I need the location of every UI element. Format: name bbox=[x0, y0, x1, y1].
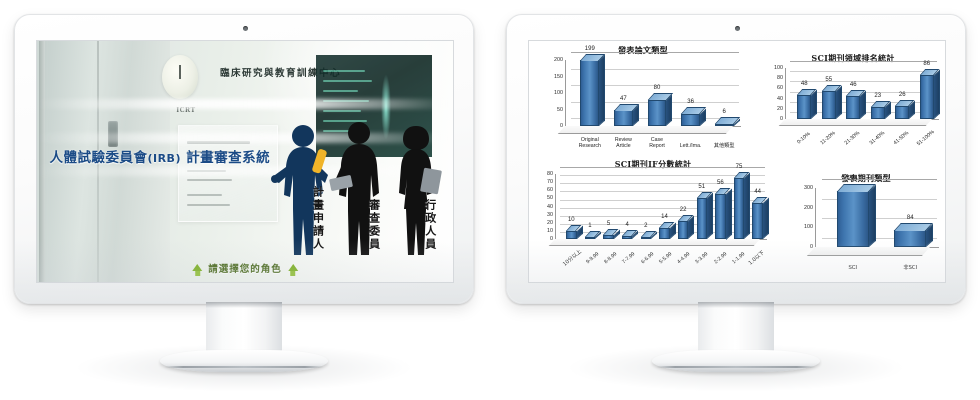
bar-side bbox=[744, 173, 750, 239]
bar-value-label: 46 bbox=[850, 82, 857, 88]
bar: 23 bbox=[871, 107, 885, 119]
y-axis-tick: 80 bbox=[765, 75, 783, 81]
bar-face bbox=[566, 231, 576, 239]
bar-face bbox=[846, 96, 860, 119]
y-axis-tick: 50 bbox=[537, 195, 553, 201]
chart-floor bbox=[558, 126, 733, 134]
bar-side bbox=[836, 86, 842, 119]
silhouette-admin[interactable] bbox=[386, 123, 446, 263]
sci-rank-chart-title: SCI期刊領域排名統計 bbox=[765, 53, 941, 64]
bar: 55 bbox=[822, 91, 836, 119]
x-axis-tick: 41-50% bbox=[890, 126, 915, 144]
y-axis-tick: 300 bbox=[791, 185, 813, 191]
monitor-bezel-right: 發表論文類型 0501001502001994780366 OriginalRe… bbox=[506, 14, 966, 304]
x-axis-tick: 非SCI bbox=[882, 256, 940, 274]
bar-value-label: 48 bbox=[801, 81, 808, 87]
sci-rank-plot: 020406080100485546232686 bbox=[765, 66, 941, 128]
bar-value-label: 26 bbox=[899, 92, 906, 98]
sci-if-chart-title: SCI期刊IF分數統計 bbox=[537, 159, 769, 170]
bar-value-label: 36 bbox=[687, 99, 694, 105]
bar-value-label: 84 bbox=[907, 215, 914, 221]
bar-side bbox=[869, 185, 876, 247]
bar: 75 bbox=[734, 178, 744, 239]
silhouette-reviewer[interactable] bbox=[328, 121, 390, 263]
role-label-applicant[interactable]: 計畫申請人 bbox=[309, 186, 325, 251]
screenshot-stage: ICRT 臨床研究與教育訓練中心 bbox=[0, 0, 980, 400]
bar-face bbox=[580, 60, 599, 126]
gridline bbox=[790, 71, 937, 72]
bar-side bbox=[633, 105, 639, 126]
webcam-dot-right bbox=[735, 26, 740, 31]
bar: 4 bbox=[622, 236, 632, 239]
bar-side bbox=[934, 70, 940, 119]
bar-value-label: 22 bbox=[680, 207, 687, 213]
arrow-up-icon-right bbox=[288, 264, 298, 271]
monitor-base-left bbox=[160, 350, 328, 372]
y-axis-tick: 50 bbox=[543, 107, 563, 113]
bar-value-label: 6 bbox=[723, 109, 726, 115]
y-axis-line bbox=[565, 60, 566, 126]
screen-left: ICRT 臨床研究與教育訓練中心 bbox=[36, 40, 454, 283]
x-axis-tick: 4-4.99 bbox=[675, 246, 693, 264]
x-axis-tick: 9-9.99 bbox=[584, 246, 602, 264]
irb-splash: ICRT 臨床研究與教育訓練中心 bbox=[37, 41, 453, 282]
bar-value-label: 4 bbox=[626, 222, 629, 228]
bar-face bbox=[641, 237, 651, 239]
y-axis-tick: 150 bbox=[543, 74, 563, 80]
y-axis-tick: 60 bbox=[537, 187, 553, 193]
page-title: 人體試驗委員會(IRB) 計畫審查系統 bbox=[49, 146, 270, 166]
role-prompt-text: 請選擇您的角色 bbox=[208, 261, 282, 275]
bar-face bbox=[895, 106, 909, 119]
bar: 80 bbox=[648, 100, 667, 126]
bar-value-label: 55 bbox=[825, 77, 832, 83]
bar-face bbox=[715, 124, 734, 126]
monitor-base-edge-right bbox=[656, 366, 816, 368]
paper-type-chart: 發表論文類型 0501001502001994780366 OriginalRe… bbox=[543, 45, 743, 165]
bar: 84 bbox=[894, 230, 926, 247]
y-axis-tick: 100 bbox=[791, 224, 813, 230]
bar: 44 bbox=[752, 203, 762, 239]
chart-floor bbox=[549, 239, 760, 246]
page-title-cjk2: 計畫審查系統 bbox=[181, 150, 270, 166]
bar-face bbox=[614, 110, 633, 126]
bar: 6 bbox=[715, 124, 734, 126]
x-axis-tick: 6-6.99 bbox=[639, 246, 657, 264]
bar: 5 bbox=[603, 235, 613, 239]
x-axis-tick: SCI bbox=[824, 256, 882, 274]
paper-type-xaxis: OriginalResearchReviewArticleCaseReportL… bbox=[573, 134, 741, 152]
bar: 46 bbox=[846, 96, 860, 119]
sci-rank-xaxis: 0-10%11-20%21-30%31-40%41-50%51-100% bbox=[792, 126, 939, 144]
page-title-irb: (IRB) bbox=[147, 152, 181, 165]
paper-type-plot: 0501001502001994780366 bbox=[543, 58, 743, 136]
paper-type-chart-title: 發表論文類型 bbox=[543, 45, 743, 56]
x-axis-tick: 1.0以下 bbox=[748, 246, 767, 264]
bar-face bbox=[752, 203, 762, 239]
bar-value-label: 23 bbox=[874, 93, 881, 99]
bar-value-label: 44 bbox=[754, 189, 761, 195]
y-axis-tick: 20 bbox=[537, 220, 553, 226]
sci-if-chart: SCI期刊IF分數統計 0102030405060708010154214225… bbox=[537, 159, 769, 281]
page-title-cjk: 人體試驗委員會 bbox=[49, 150, 147, 166]
monitor-base-edge-left bbox=[164, 366, 324, 368]
x-axis-tick: 31-40% bbox=[866, 126, 891, 144]
gridline bbox=[790, 61, 937, 62]
y-axis-tick: 0 bbox=[543, 123, 563, 129]
bar-side bbox=[811, 89, 817, 119]
chart-floor bbox=[779, 119, 932, 126]
journal-type-chart: 發表期刊類型 010020030028484 SCI非SCI bbox=[791, 173, 941, 281]
x-axis-line bbox=[815, 247, 939, 248]
chart-floor bbox=[807, 247, 930, 256]
x-axis-tick: 11-20% bbox=[817, 126, 842, 144]
bar-face bbox=[622, 236, 632, 239]
y-axis-tick: 40 bbox=[765, 96, 783, 102]
bar-side bbox=[688, 216, 694, 239]
bar-side bbox=[599, 55, 605, 126]
x-axis-tick: 5-5.99 bbox=[657, 246, 675, 264]
y-axis-tick: 100 bbox=[543, 90, 563, 96]
role-prompt: 請選擇您的角色 bbox=[192, 261, 298, 275]
bar: 10 bbox=[566, 231, 576, 239]
bar-value-label: 75 bbox=[736, 164, 743, 170]
bar-face bbox=[837, 191, 869, 247]
y-axis-tick: 100 bbox=[765, 65, 783, 71]
bar-face bbox=[678, 221, 688, 239]
bar: 199 bbox=[580, 60, 599, 126]
bar-value-label: 80 bbox=[654, 85, 661, 91]
bar: 284 bbox=[837, 191, 869, 247]
gridline bbox=[822, 179, 937, 180]
bar-side bbox=[926, 224, 933, 247]
y-axis-tick: 60 bbox=[765, 85, 783, 91]
x-axis-tick: 21-30% bbox=[841, 126, 866, 144]
x-axis-tick: 其他類型 bbox=[707, 134, 741, 152]
bar-face bbox=[681, 114, 700, 126]
screen-right: 發表論文類型 0501001502001994780366 OriginalRe… bbox=[528, 40, 946, 283]
bar-side bbox=[707, 193, 713, 239]
statistics-dashboard: 發表論文類型 0501001502001994780366 OriginalRe… bbox=[529, 41, 945, 282]
y-axis-tick: 0 bbox=[791, 244, 813, 250]
y-axis-tick: 70 bbox=[537, 179, 553, 185]
x-axis-tick: 2-2.99 bbox=[712, 246, 730, 264]
x-axis-tick: CaseReport bbox=[640, 134, 674, 152]
bar-value-label: 284 bbox=[848, 176, 858, 182]
y-axis-tick: 0 bbox=[537, 236, 553, 242]
bar-face bbox=[659, 228, 669, 239]
bar-face bbox=[603, 235, 613, 239]
wall-clock bbox=[162, 55, 198, 99]
bar-face bbox=[797, 95, 811, 119]
gridline bbox=[560, 167, 765, 168]
bar-face bbox=[697, 198, 707, 239]
bar: 48 bbox=[797, 95, 811, 119]
bar-side bbox=[860, 90, 866, 118]
monitor-base-right bbox=[652, 350, 820, 372]
bar-face bbox=[822, 91, 836, 119]
bar-face bbox=[715, 194, 725, 240]
x-axis-tick: 10分以上 bbox=[562, 246, 584, 264]
bar-value-label: 86 bbox=[923, 61, 930, 67]
x-axis-tick: 1-1.99 bbox=[730, 246, 748, 264]
bar-face bbox=[734, 178, 744, 239]
x-axis-tick: 7-7.99 bbox=[621, 246, 639, 264]
bar: 47 bbox=[614, 110, 633, 126]
bar-value-label: 2 bbox=[644, 223, 647, 229]
y-axis-tick: 30 bbox=[537, 212, 553, 218]
x-axis-tick: Lett./Ima. bbox=[674, 134, 708, 152]
x-axis-tick: 3-3.99 bbox=[694, 246, 712, 264]
x-axis-line bbox=[555, 239, 767, 240]
bar: 2 bbox=[641, 237, 651, 239]
bar-face bbox=[894, 230, 926, 247]
bar-face bbox=[920, 75, 934, 119]
x-axis-tick: ReviewArticle bbox=[607, 134, 641, 152]
bar-face bbox=[648, 100, 667, 126]
y-axis-tick: 200 bbox=[543, 57, 563, 63]
x-axis-tick: OriginalResearch bbox=[573, 134, 607, 152]
bar-side bbox=[726, 188, 732, 239]
gridline bbox=[790, 81, 937, 82]
bar-side bbox=[909, 101, 915, 119]
y-axis-line bbox=[785, 68, 786, 119]
sci-if-xaxis: 10分以上9-9.998-8.997-7.996-6.995-5.994-4.9… bbox=[562, 246, 767, 264]
y-axis-tick: 0 bbox=[765, 116, 783, 122]
bar-side bbox=[885, 102, 891, 119]
bar-face bbox=[585, 237, 595, 239]
role-label-reviewer[interactable]: 審查委員 bbox=[366, 199, 382, 251]
journal-type-xaxis: SCI非SCI bbox=[824, 256, 939, 274]
webcam-dot-left bbox=[243, 26, 248, 31]
y-axis-line bbox=[815, 188, 816, 247]
irb-splash-monitor: ICRT 臨床研究與教育訓練中心 bbox=[14, 14, 474, 386]
arrow-up-icon-left bbox=[192, 264, 202, 271]
bar-value-label: 51 bbox=[698, 184, 705, 190]
bar-value-label: 1 bbox=[588, 223, 591, 229]
bar: 22 bbox=[678, 221, 688, 239]
bar-side bbox=[763, 198, 769, 239]
y-axis-tick: 80 bbox=[537, 171, 553, 177]
bar: 14 bbox=[659, 228, 669, 239]
bar-value-label: 10 bbox=[568, 217, 575, 223]
x-axis-tick: 8-8.99 bbox=[602, 246, 620, 264]
x-axis-tick: 0-10% bbox=[792, 126, 817, 144]
bar: 86 bbox=[920, 75, 934, 119]
y-axis-tick: 10 bbox=[537, 228, 553, 234]
journal-type-plot: 010020030028484 bbox=[791, 186, 941, 258]
bar: 51 bbox=[697, 198, 707, 239]
bar-side bbox=[666, 94, 672, 126]
bar-face bbox=[871, 107, 885, 119]
bar: 26 bbox=[895, 106, 909, 119]
bar-value-label: 5 bbox=[607, 221, 610, 227]
bar-value-label: 199 bbox=[585, 46, 595, 52]
y-axis-tick: 200 bbox=[791, 205, 813, 211]
bar: 36 bbox=[681, 114, 700, 126]
x-axis-tick: 51-100% bbox=[915, 126, 940, 144]
bar-value-label: 47 bbox=[620, 96, 627, 102]
y-axis-tick: 20 bbox=[765, 106, 783, 112]
sci-rank-chart: SCI期刊領域排名統計 020406080100485546232686 0-1… bbox=[765, 53, 941, 173]
bar: 1 bbox=[585, 237, 595, 239]
y-axis-line bbox=[555, 174, 556, 239]
y-axis-tick: 40 bbox=[537, 204, 553, 210]
gridline bbox=[571, 52, 739, 53]
sci-if-plot: 01020304050607080101542142251567544 bbox=[537, 172, 769, 248]
bar-value-label: 14 bbox=[661, 214, 668, 220]
bar-value-label: 56 bbox=[717, 180, 724, 186]
bar: 56 bbox=[715, 194, 725, 240]
role-label-admin[interactable]: 行政人員 bbox=[422, 199, 438, 251]
monitor-bezel-left: ICRT 臨床研究與教育訓練中心 bbox=[14, 14, 474, 304]
statistics-monitor: 發表論文類型 0501001502001994780366 OriginalRe… bbox=[506, 14, 966, 386]
